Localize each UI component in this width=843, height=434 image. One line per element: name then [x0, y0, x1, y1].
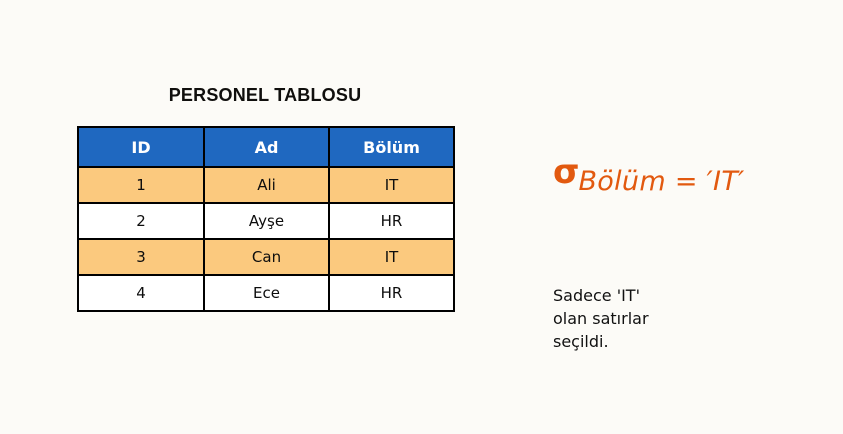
- column-header-id: ID: [78, 127, 204, 167]
- cell-id: 4: [78, 275, 204, 311]
- table-header-row: ID Ad Bölüm: [78, 127, 454, 167]
- caption-line: seçildi.: [553, 330, 649, 353]
- cell-ad: Ayşe: [204, 203, 329, 239]
- cell-id: 2: [78, 203, 204, 239]
- cell-bolum: HR: [329, 275, 454, 311]
- table-body: 1 Ali IT 2 Ayşe HR 3 Can IT 4 Ece HR: [78, 167, 454, 311]
- personel-table: ID Ad Bölüm 1 Ali IT 2 Ayşe HR 3 Can IT: [77, 126, 455, 312]
- selection-operator-formula: σBölüm = ′IT′: [553, 155, 746, 189]
- cell-ad: Ali: [204, 167, 329, 203]
- table-row: 3 Can IT: [78, 239, 454, 275]
- column-header-bolum: Bölüm: [329, 127, 454, 167]
- cell-ad: Can: [204, 239, 329, 275]
- selection-caption: Sadece 'IT' olan satırlar seçildi.: [553, 284, 649, 353]
- table-row: 2 Ayşe HR: [78, 203, 454, 239]
- cell-bolum: IT: [329, 167, 454, 203]
- column-header-ad: Ad: [204, 127, 329, 167]
- cell-id: 3: [78, 239, 204, 275]
- cell-bolum: HR: [329, 203, 454, 239]
- cell-ad: Ece: [204, 275, 329, 311]
- table-row: 1 Ali IT: [78, 167, 454, 203]
- cell-bolum: IT: [329, 239, 454, 275]
- page-title: PERSONEL TABLOSU: [77, 85, 453, 106]
- caption-line: olan satırlar: [553, 307, 649, 330]
- sigma-symbol: σ: [553, 152, 579, 192]
- caption-line: Sadece 'IT': [553, 284, 649, 307]
- sigma-subscript-condition: Bölüm = ′IT′: [578, 166, 744, 197]
- table-header: ID Ad Bölüm: [78, 127, 454, 167]
- table-row: 4 Ece HR: [78, 275, 454, 311]
- cell-id: 1: [78, 167, 204, 203]
- slide-canvas: PERSONEL TABLOSU ID Ad Bölüm 1 Ali IT 2 …: [0, 0, 843, 434]
